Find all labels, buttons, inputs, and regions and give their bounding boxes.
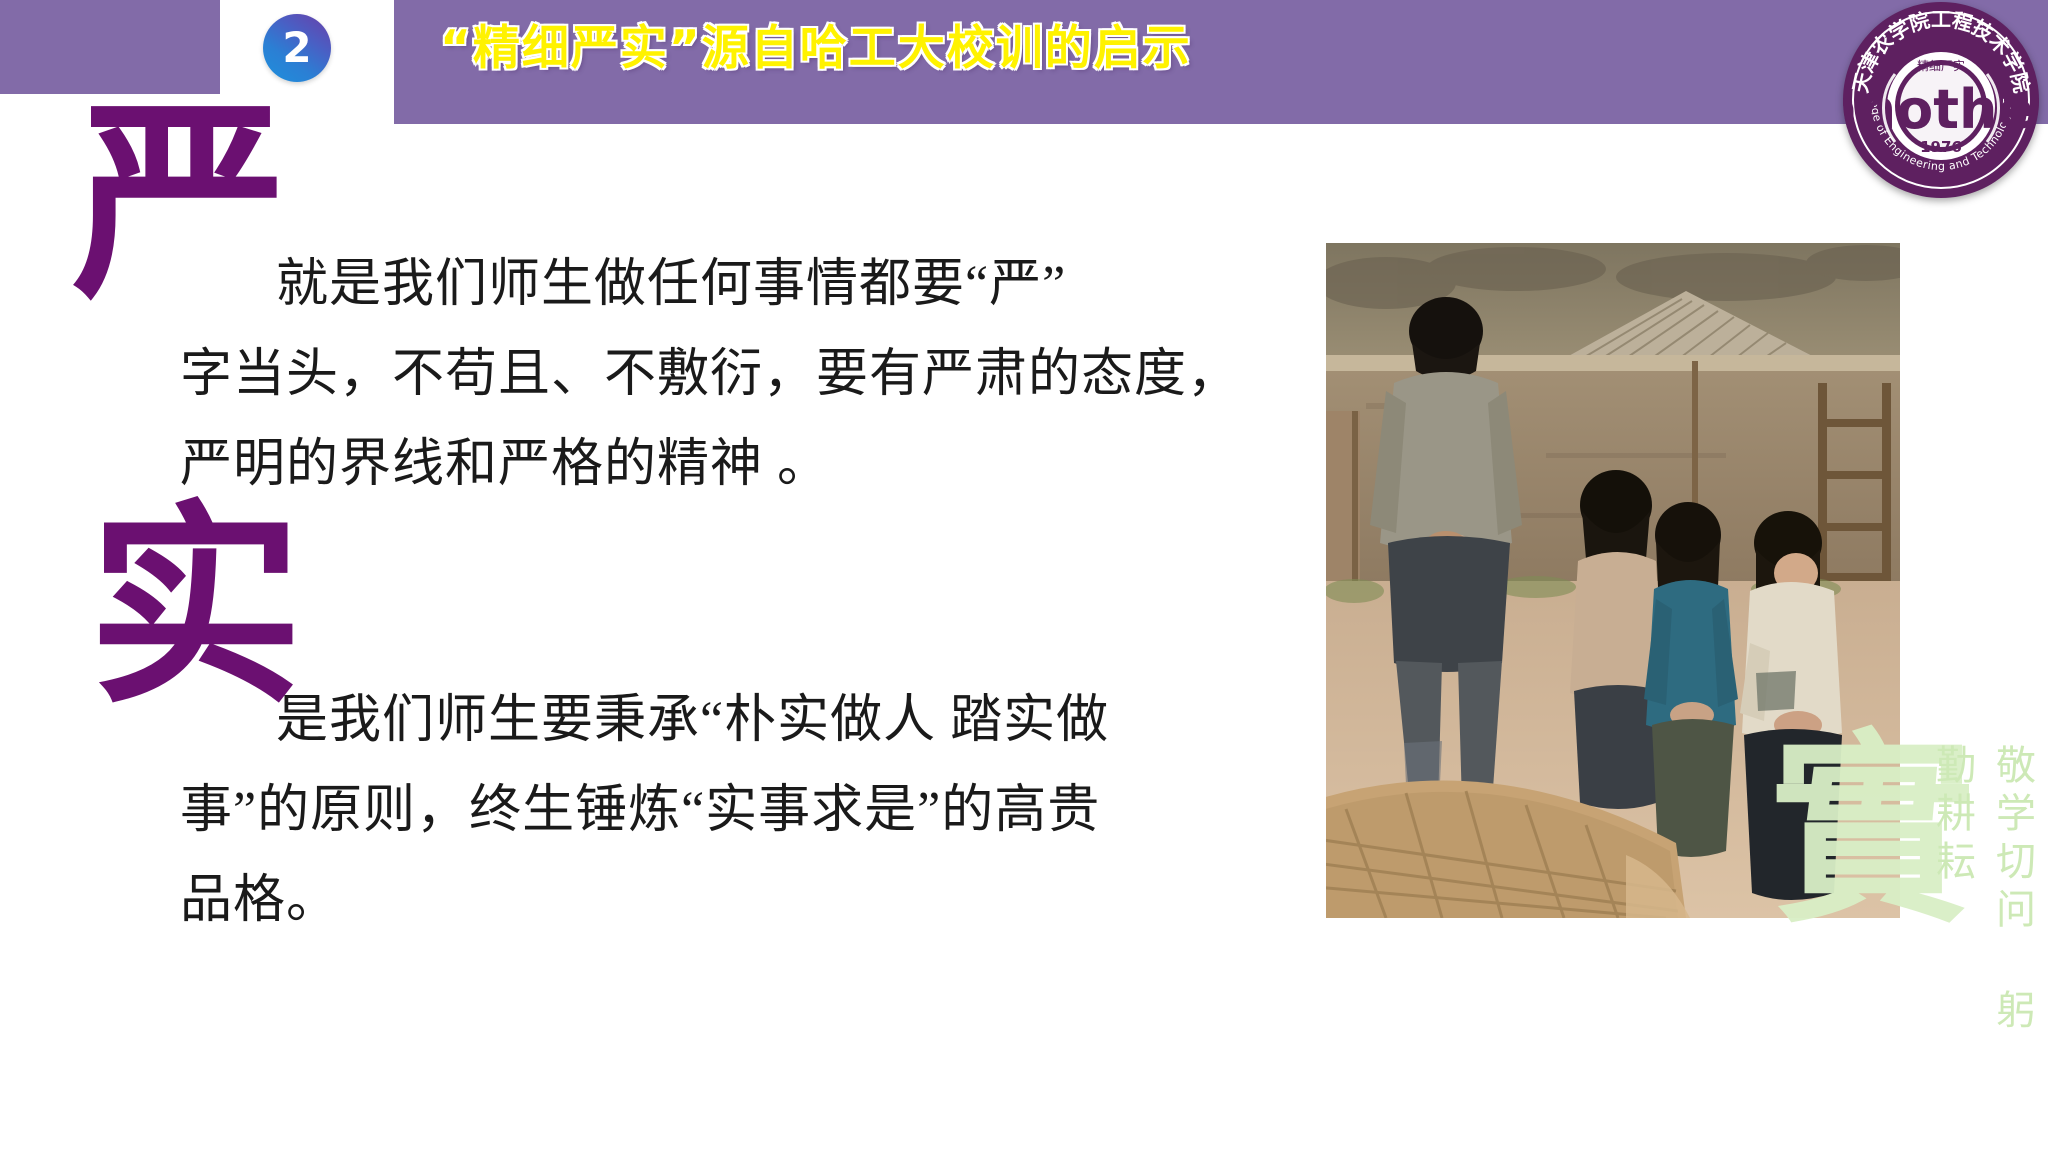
svg-text:精细严实: 精细严实 (1917, 58, 1965, 73)
step-number-badge: 2 (263, 14, 331, 82)
illustration-photo (1326, 243, 1900, 918)
page-title: “精细严实”源自哈工大校训的启示 (440, 18, 1192, 80)
paragraph-yan: 就是我们师生做任何事情都要“严” 字当头，不苟且、不敷衍，要有严肃的态度， 严明… (180, 240, 1240, 510)
paragraph-shi-line-3: 品格。 (180, 856, 1109, 946)
svg-text:1976: 1976 (1920, 138, 1962, 156)
paragraph-yan-line-3: 严明的界线和严格的精神 。 (180, 420, 1240, 510)
paragraph-yan-line-1: 就是我们师生做任何事情都要“严” (180, 240, 1240, 330)
paragraph-yan-line-2: 字当头，不苟且、不敷衍，要有严肃的态度， (180, 330, 1240, 420)
paragraph-shi: 是我们师生要秉承“朴实做人 踏实做 事”的原则，终生锤炼“实事求是”的高贵 品格… (180, 676, 1109, 946)
svg-text:another: another (1843, 78, 2039, 141)
paragraph-shi-line-1: 是我们师生要秉承“朴实做人 踏实做 (180, 676, 1109, 766)
step-number-label: 2 (263, 14, 331, 82)
watermark-motto-text: 敬学切问 躬勤耕耘 (1982, 744, 2042, 1080)
paragraph-shi-line-2: 事”的原则，终生锤炼“实事求是”的高贵 (180, 766, 1109, 856)
slide: 2 “精细严实”源自哈工大校训的启示 天津农学院工程技术学院 College o… (0, 0, 2048, 1152)
school-emblem-logo: 天津农学院工程技术学院 College of Engineering and T… (1843, 2, 2039, 198)
